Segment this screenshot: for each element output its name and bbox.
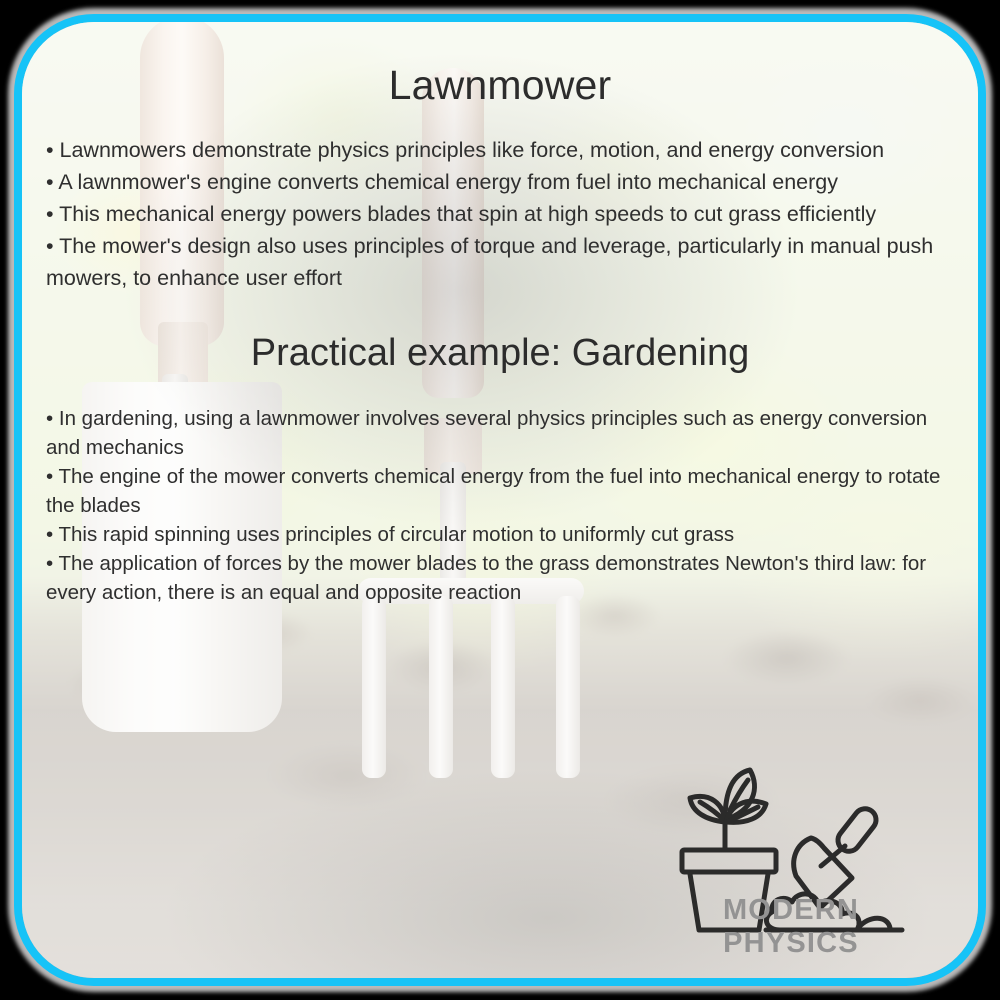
top-bullet-list: • Lawnmowers demonstrate physics princip…	[46, 134, 958, 294]
card-content: Lawnmower • Lawnmowers demonstrate physi…	[22, 22, 978, 978]
section-heading: Practical example: Gardening	[22, 332, 978, 375]
cyan-rounded-frame: Lawnmower • Lawnmowers demonstrate physi…	[14, 14, 986, 986]
list-item: • The mower's design also uses principle…	[46, 230, 958, 294]
list-item: • The application of forces by the mower…	[46, 549, 964, 607]
list-item: • This mechanical energy powers blades t…	[46, 198, 958, 230]
screenshot-canvas: Lawnmower • Lawnmowers demonstrate physi…	[0, 0, 1000, 1000]
bottom-bullet-list: • In gardening, using a lawnmower involv…	[46, 404, 964, 607]
list-item: • A lawnmower's engine converts chemical…	[46, 166, 958, 198]
list-item: • Lawnmowers demonstrate physics princip…	[46, 134, 958, 166]
list-item: • The engine of the mower converts chemi…	[46, 462, 964, 520]
list-item: • This rapid spinning uses principles of…	[46, 520, 964, 549]
page-title: Lawnmower	[22, 62, 978, 109]
list-item: • In gardening, using a lawnmower involv…	[46, 404, 964, 462]
logo-wordmark: MODERN PHYSICS	[670, 894, 912, 960]
brand-logo: MODERN PHYSICS	[670, 762, 912, 972]
